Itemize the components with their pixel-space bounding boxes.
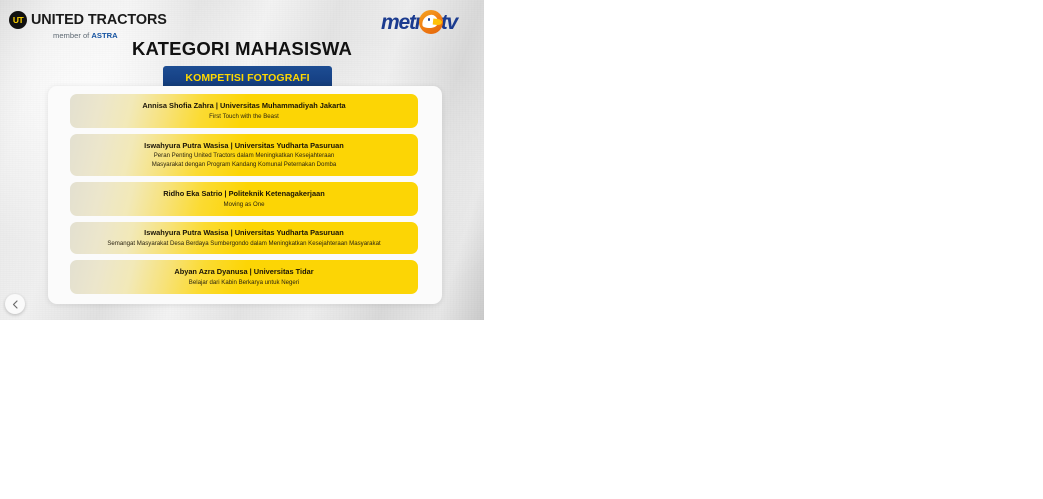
- winner-name: Ridho Eka Satrio | Politeknik Ketenagake…: [163, 189, 324, 198]
- ut-monogram-text: UT: [13, 16, 23, 25]
- carousel-prev-button[interactable]: [5, 294, 25, 314]
- winners-list: Annisa Shofia Zahra | Universitas Muhamm…: [70, 94, 442, 300]
- winner-card: Iswahyura Putra Wasisa | Universitas Yud…: [70, 134, 418, 176]
- metro-eagle-icon: [419, 10, 443, 34]
- eagle-beak-shape: [432, 19, 442, 26]
- winner-name: Abyan Azra Dyanusa | Universitas Tidar: [174, 267, 313, 276]
- page-title: KATEGORI MAHASISWA: [0, 40, 484, 59]
- united-tractors-wordmark: UNITED TRACTORS: [31, 13, 167, 27]
- chevron-left-icon: [11, 300, 20, 309]
- united-tractors-tagline: member of ASTRA: [53, 32, 118, 40]
- winner-subtitle-line: First Touch with the Beast: [209, 113, 279, 121]
- eagle-eye-shape: [428, 18, 431, 21]
- tagline-prefix: member of: [53, 31, 91, 40]
- united-tractors-logo: UT UNITED TRACTORS member of ASTRA: [9, 11, 167, 40]
- winner-card: Iswahyura Putra Wasisa | Universitas Yud…: [70, 222, 418, 254]
- winner-card: Abyan Azra Dyanusa | Universitas Tidar B…: [70, 260, 418, 294]
- tv-word-text: tv: [441, 12, 457, 33]
- winner-name: Annisa Shofia Zahra | Universitas Muhamm…: [142, 101, 345, 110]
- slide-image: UT UNITED TRACTORS member of ASTRA metr …: [0, 0, 484, 320]
- winner-subtitle-line: Belajar dari Kabin Berkarya untuk Negeri: [189, 279, 299, 287]
- winner-name: Iswahyura Putra Wasisa | Universitas Yud…: [144, 141, 344, 150]
- winner-subtitle-line: Masyarakat dengan Program Kandang Komuna…: [152, 161, 337, 169]
- competition-banner-label: KOMPETISI FOTOGRAFI: [185, 73, 309, 84]
- metro-word-text: metr: [381, 12, 422, 33]
- astra-brand-text: ASTRA: [91, 31, 117, 40]
- winners-panel: Annisa Shofia Zahra | Universitas Muhamm…: [48, 86, 442, 304]
- winner-subtitle-line: Semangat Masyarakat Desa Berdaya Sumberg…: [107, 240, 380, 248]
- united-tractors-mark-icon: UT: [9, 11, 27, 29]
- metro-tv-logo: metr tv: [381, 10, 457, 34]
- winner-subtitle-line: Peran Penting United Tractors dalam Meni…: [154, 152, 335, 160]
- winner-subtitle-line: Moving as One: [224, 201, 265, 209]
- winner-name: Iswahyura Putra Wasisa | Universitas Yud…: [144, 228, 344, 237]
- winner-card: Annisa Shofia Zahra | Universitas Muhamm…: [70, 94, 418, 128]
- united-tractors-logo-row: UT UNITED TRACTORS: [9, 11, 167, 29]
- winner-card: Ridho Eka Satrio | Politeknik Ketenagake…: [70, 182, 418, 216]
